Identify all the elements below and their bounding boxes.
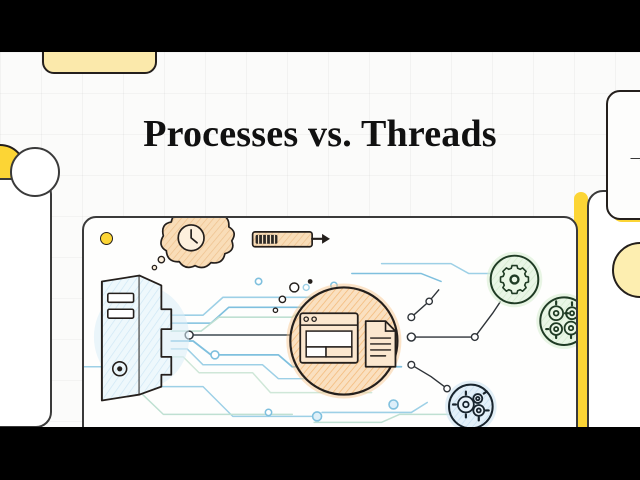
resistor-icon: [253, 232, 330, 247]
slide-stage: → Processes vs. Threads: [0, 0, 640, 480]
thread-node-gear-blue: [445, 381, 497, 427]
accent-dot-icon: [100, 232, 113, 245]
browser-window-icon: [300, 313, 358, 363]
process-thread-diagram: [84, 218, 576, 427]
top-left-cream-card: [42, 52, 157, 74]
thread-node-gear-multi: [536, 293, 576, 349]
clock-thought-bubble-icon: [152, 218, 234, 270]
gear-icon: [501, 266, 529, 294]
letterbox-top: [0, 0, 640, 52]
left-white-panel: [0, 178, 52, 427]
thread-connectors: [411, 289, 500, 388]
letterbox-bottom: [0, 427, 640, 480]
slide-canvas: → Processes vs. Threads: [0, 52, 640, 427]
illustration-card: [82, 216, 578, 427]
document-icon: [366, 321, 396, 367]
page-title: Processes vs. Threads: [0, 112, 640, 156]
computer-tower-icon: [94, 276, 189, 401]
right-white-panel: [587, 190, 640, 427]
thread-node-gear-single: [487, 252, 543, 308]
